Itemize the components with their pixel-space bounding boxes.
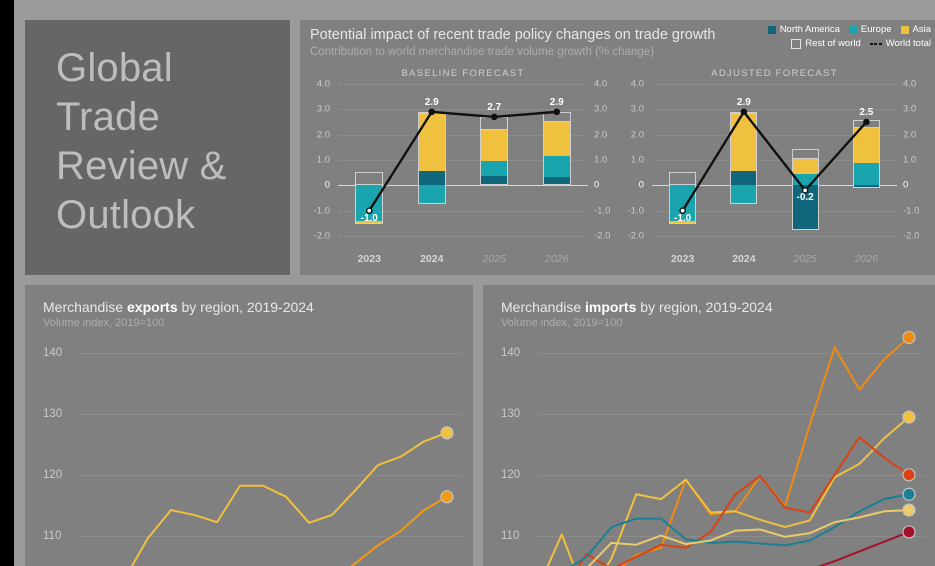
x-axis-labels: 2023202420252026: [652, 253, 897, 269]
exports-title: Merchandise exports by region, 2019-2024: [43, 299, 314, 316]
y-tick-label: -1.0: [628, 205, 644, 216]
line-series-teal: [537, 494, 909, 566]
endpoint-marker: [903, 504, 915, 516]
endpoint-marker: [903, 411, 915, 423]
y-tick-label: 110: [43, 530, 75, 542]
y-tick-label: -2.0: [314, 231, 330, 242]
bottom-row: Merchandise exports by region, 2019-2024…: [25, 285, 935, 566]
y-tick-label: 0: [325, 180, 330, 191]
exports-card: Merchandise exports by region, 2019-2024…: [25, 285, 473, 566]
imports-title-prefix: Merchandise: [501, 299, 585, 315]
x-tick-label: 2024: [420, 253, 443, 265]
legend-label: North America: [780, 24, 840, 35]
imports-title-bold: imports: [585, 299, 636, 315]
page-canvas: Global Trade Review & Outlook Potential …: [14, 0, 935, 566]
top-row: Global Trade Review & Outlook Potential …: [25, 20, 935, 275]
plot-area: -1.02.9-0.22.5: [652, 84, 897, 236]
plot-area: -1.02.92.72.9: [338, 84, 588, 236]
y-tick-label: 130: [501, 408, 533, 420]
imports-plot: 140130120110: [501, 335, 925, 566]
page-title: Global Trade Review & Outlook: [56, 44, 282, 240]
legend-item-north-america: North America: [768, 24, 840, 35]
cover-title-card: Global Trade Review & Outlook: [25, 20, 290, 275]
x-tick-label: 2023: [671, 253, 694, 265]
y-tick-label: 3.0: [594, 104, 607, 115]
y-tick-label: 1.0: [594, 155, 607, 166]
gridline: [338, 236, 588, 237]
line-series-1: [79, 433, 447, 566]
line-series-amber: [537, 417, 909, 566]
y-tick-label: -1.0: [594, 205, 610, 216]
adjusted-forecast-panel: ADJUSTED FORECAST 4.03.02.01.00-1.0-2.04…: [618, 68, 931, 273]
y-tick-label: 2.0: [594, 129, 607, 140]
forecast-card: Potential impact of recent trade policy …: [300, 20, 935, 275]
y-tick-label: -2.0: [594, 231, 610, 242]
y-tick-label: 0: [903, 180, 908, 191]
legend-item-europe: Europe: [849, 24, 892, 35]
endpoint-marker: [441, 491, 453, 503]
world-total-line: [652, 84, 897, 236]
legend-item-asia: Asia: [901, 24, 931, 35]
legend-label: Asia: [913, 24, 931, 35]
y-tick-label: -1.0: [903, 205, 919, 216]
gridline: [652, 236, 897, 237]
y-tick-label: 0: [594, 180, 599, 191]
x-axis-labels: 2023202420252026: [338, 253, 588, 269]
y-tick-label: 4.0: [903, 79, 916, 90]
x-tick-label: 2023: [358, 253, 381, 265]
y-tick-label: 2.0: [631, 129, 644, 140]
baseline-panel-title: BASELINE FORECAST: [304, 68, 622, 79]
endpoint-marker: [441, 427, 453, 439]
legend-swatch-icon: [901, 26, 909, 34]
exports-title-bold: exports: [127, 299, 178, 315]
y-tick-label: -1.0: [314, 205, 330, 216]
y-tick-label: -2.0: [628, 231, 644, 242]
x-tick-label: 2025: [483, 253, 506, 265]
line-series-orange: [537, 337, 909, 566]
endpoint-marker: [903, 331, 915, 343]
y-tick-label: 2.0: [317, 129, 330, 140]
chart-legend: North AmericaEuropeAsiaRest of worldWorl…: [719, 24, 931, 49]
y-tick-label: 3.0: [903, 104, 916, 115]
y-axis-left: 4.03.02.01.00-1.0-2.0: [304, 84, 334, 236]
endpoint-marker: [903, 526, 915, 538]
adjusted-panel-title: ADJUSTED FORECAST: [618, 68, 931, 79]
exports-title-prefix: Merchandise: [43, 299, 127, 315]
x-tick-label: 2026: [855, 253, 878, 265]
imports-card: Merchandise imports by region, 2019-2024…: [483, 285, 935, 566]
imports-subtitle: Volume index, 2019=100: [501, 317, 622, 330]
series-lines: [537, 335, 925, 566]
y-tick-label: 0: [639, 180, 644, 191]
imports-title-suffix: by region, 2019-2024: [636, 299, 772, 315]
y-tick-label: 3.0: [317, 104, 330, 115]
endpoint-marker: [903, 469, 915, 481]
x-tick-label: 2025: [793, 253, 816, 265]
y-tick-label: 120: [501, 469, 533, 481]
y-tick-label: 1.0: [631, 155, 644, 166]
x-tick-label: 2026: [545, 253, 568, 265]
y-tick-label: 4.0: [631, 79, 644, 90]
y-tick-label: 2.0: [903, 129, 916, 140]
y-tick-label: 1.0: [317, 155, 330, 166]
exports-title-suffix: by region, 2019-2024: [178, 299, 314, 315]
y-tick-label: 130: [43, 408, 75, 420]
y-tick-label: 120: [43, 469, 75, 481]
y-tick-label: 4.0: [317, 79, 330, 90]
line-series-2: [79, 497, 447, 566]
y-tick-label: 140: [501, 347, 533, 359]
legend-item-world-total: World total: [870, 38, 931, 49]
legend-swatch-icon: [768, 26, 776, 34]
y-tick-label: 1.0: [903, 155, 916, 166]
legend-item-rest-of-world: Rest of world: [791, 38, 860, 49]
world-total-line: [338, 84, 588, 236]
legend-label: World total: [886, 38, 931, 49]
imports-title: Merchandise imports by region, 2019-2024: [501, 299, 773, 316]
legend-swatch-icon: [791, 39, 801, 49]
legend-label: Europe: [861, 24, 892, 35]
y-tick-label: -2.0: [903, 231, 919, 242]
series-lines: [79, 335, 463, 566]
line-series-red: [537, 437, 909, 566]
exports-plot: 140130120110: [43, 335, 463, 566]
exports-subtitle: Volume index, 2019=100: [43, 317, 164, 330]
y-tick-label: 3.0: [631, 104, 644, 115]
endpoint-marker: [903, 488, 915, 500]
legend-swatch-icon: [849, 26, 857, 34]
y-axis-right: 4.03.02.01.00-1.0-2.0: [901, 84, 931, 236]
y-axis-left: 4.03.02.01.00-1.0-2.0: [618, 84, 648, 236]
dashed-line-icon: [870, 40, 882, 48]
y-tick-label: 4.0: [594, 79, 607, 90]
x-tick-label: 2024: [732, 253, 755, 265]
legend-label: Rest of world: [805, 38, 860, 49]
y-tick-label: 110: [501, 530, 533, 542]
y-tick-label: 140: [43, 347, 75, 359]
baseline-forecast-panel: BASELINE FORECAST 4.03.02.01.00-1.0-2.04…: [304, 68, 622, 273]
